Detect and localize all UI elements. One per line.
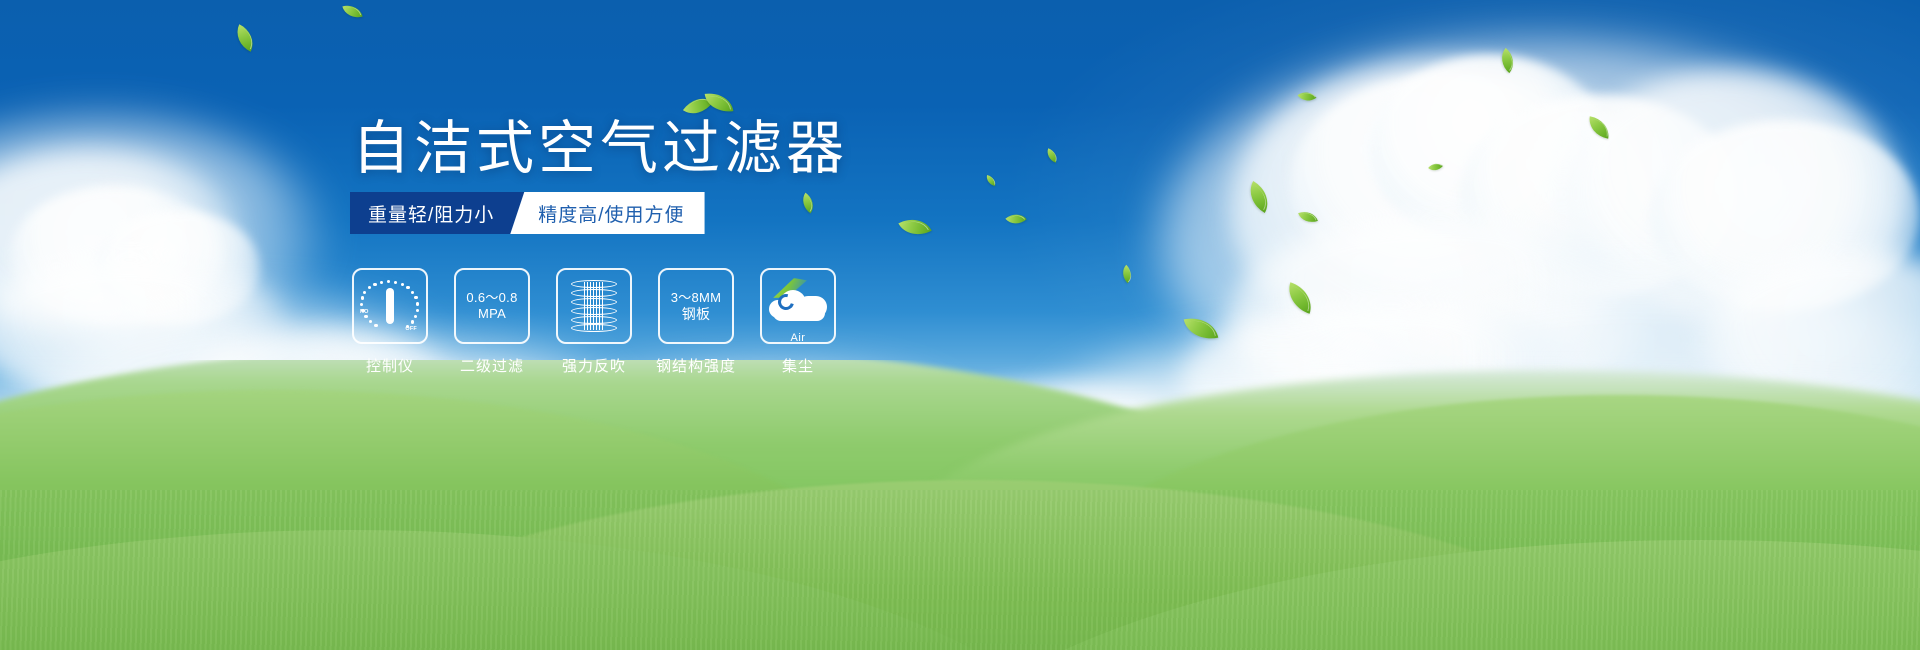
feature-list: NO OFF 控制仪 0.6～0.8 MPA 二级过滤 [352,268,836,376]
pressure-range-text: 0.6～0.8 [466,290,517,306]
feature-label: 控制仪 [366,355,414,376]
steel-thickness-text: 3～8MM [671,290,722,306]
badge-secondary: 精度高/使用方便 [510,192,704,234]
badge-group: 重量轻/阻力小 精度高/使用方便 [350,192,705,234]
dial-needle [386,288,394,324]
hero-banner: 自洁式空气过滤器 重量轻/阻力小 精度高/使用方便 [0,0,1920,650]
banner-content: 自洁式空气过滤器 重量轻/阻力小 精度高/使用方便 [0,0,1920,650]
feature-label: 强力反吹 [562,355,626,376]
feature-icon-box: 0.6～0.8 MPA [454,268,530,344]
filter-coil-icon [568,278,620,334]
pressure-unit-text: MPA [478,306,506,322]
feature-icon-box: 3～8MM 钢板 [658,268,734,344]
steel-material-text: 钢板 [682,306,711,322]
feature-icon-box: Air [760,268,836,344]
page-title: 自洁式空气过滤器 [352,118,848,180]
feature-label: 钢结构强度 [656,355,736,376]
feature-label: 二级过滤 [460,355,524,376]
feature-item-steel: 3～8MM 钢板 钢结构强度 [658,268,734,376]
badge-primary: 重量轻/阻力小 [350,192,524,234]
air-cloud-icon: Air [767,282,829,330]
feature-item-dust: Air 集尘 [760,268,836,376]
feature-item-pressure: 0.6～0.8 MPA 二级过滤 [454,268,530,376]
feature-item-backblow: 强力反吹 [556,268,632,376]
air-label: Air [767,332,829,344]
dial-on-label: NO [360,309,369,315]
feature-icon-box: NO OFF [352,268,428,344]
dial-off-label: OFF [405,326,417,332]
feature-icon-box [556,268,632,344]
feature-item-controller: NO OFF 控制仪 [352,268,428,376]
feature-label: 集尘 [782,355,814,376]
control-dial-icon: NO OFF [361,279,419,333]
